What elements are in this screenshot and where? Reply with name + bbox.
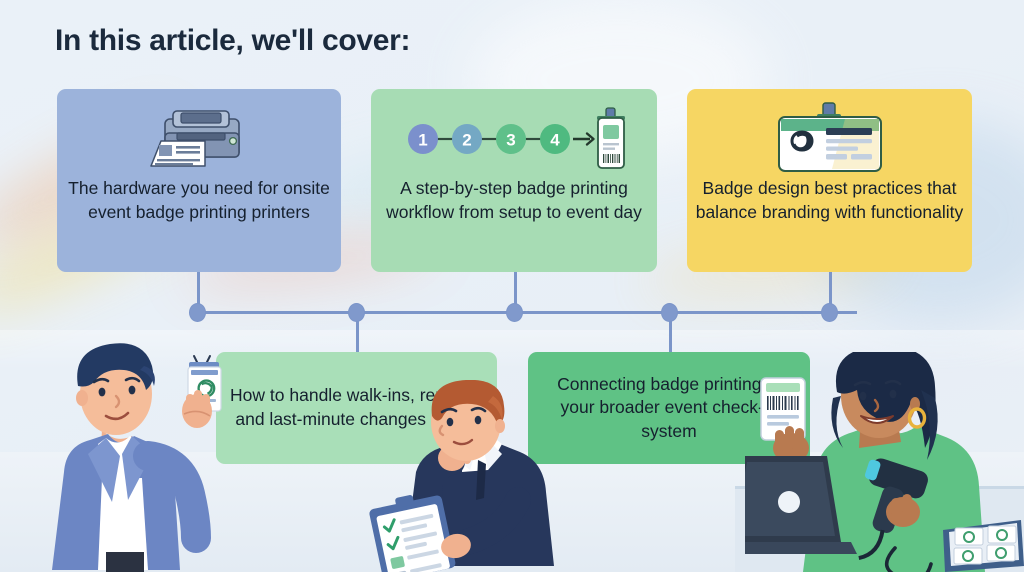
svg-text:3: 3 (506, 131, 515, 150)
svg-text:1: 1 (418, 131, 427, 150)
svg-text:4: 4 (550, 131, 560, 150)
connector-node-5 (821, 303, 838, 322)
card-hardware[interactable]: The hardware you need for onsite event b… (57, 89, 341, 272)
landscape-id-badge-icon (687, 103, 972, 175)
infographic-canvas: In this article, we'll cover: (0, 0, 1024, 572)
man-with-clipboard-illustration (368, 380, 568, 572)
woman-with-scanner-illustration (745, 352, 1024, 572)
connector-node-1 (189, 303, 206, 322)
connector-horizontal-line (197, 311, 857, 314)
card-design-text: Badge design best practices that balance… (687, 177, 972, 224)
page-title: In this article, we'll cover: (55, 24, 410, 58)
man-with-badge-illustration (44, 338, 259, 572)
connector-node-3 (506, 303, 523, 322)
connector-node-2 (348, 303, 365, 322)
card-workflow[interactable]: 1 2 3 4 (371, 89, 657, 272)
connector-node-4 (661, 303, 678, 322)
svg-text:2: 2 (462, 131, 471, 150)
numbered-steps-to-badge-icon: 1 2 3 4 (371, 103, 657, 175)
card-hardware-text: The hardware you need for onsite event b… (57, 177, 341, 224)
card-design[interactable]: Badge design best practices that balance… (687, 89, 972, 272)
card-workflow-text: A step-by-step badge printing workflow f… (371, 177, 657, 224)
label-printer-icon (57, 103, 341, 175)
